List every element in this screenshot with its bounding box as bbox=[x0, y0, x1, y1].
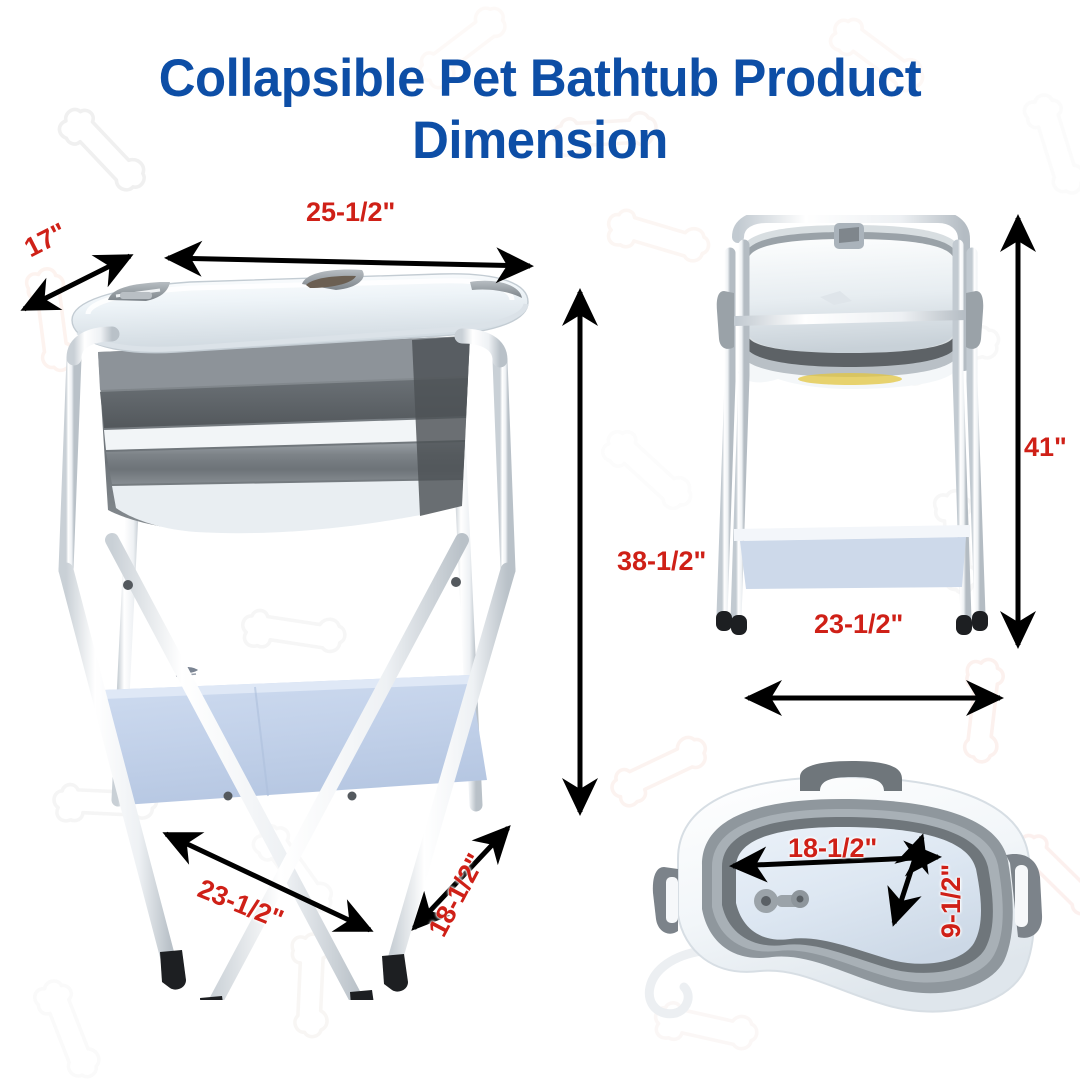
dimension-label-tub-interior-length: 18-1/2" bbox=[788, 833, 877, 863]
page-title-line-2: Dimension bbox=[22, 110, 1059, 172]
assembled-front-view bbox=[0, 240, 600, 1000]
stand-feet bbox=[160, 950, 408, 1000]
dimension-label-folded-width: 23-1/2" bbox=[814, 609, 903, 639]
dimension-label-folded-height: 41" bbox=[1024, 432, 1067, 462]
dimension-label-tub-width: 25-1/2" bbox=[306, 197, 395, 227]
infographic-canvas: Collapsible Pet Bathtub Product Dimensio… bbox=[0, 0, 1080, 1080]
dimension-label-total-height: 38-1/2" bbox=[617, 546, 706, 576]
dimension-label-tub-interior-width: 9-1/2" bbox=[936, 864, 966, 938]
fabric-storage-shelf-folded bbox=[734, 525, 970, 589]
collapsed-tub bbox=[738, 223, 962, 389]
fabric-storage-shelf bbox=[103, 667, 487, 805]
tub-top-view bbox=[640, 755, 1080, 1080]
page-title: Collapsible Pet Bathtub Product Dimensio… bbox=[22, 48, 1059, 172]
folded-stand-view bbox=[700, 215, 1000, 655]
page-title-line-1: Collapsible Pet Bathtub Product bbox=[22, 48, 1059, 110]
drain-hose bbox=[649, 951, 702, 1014]
